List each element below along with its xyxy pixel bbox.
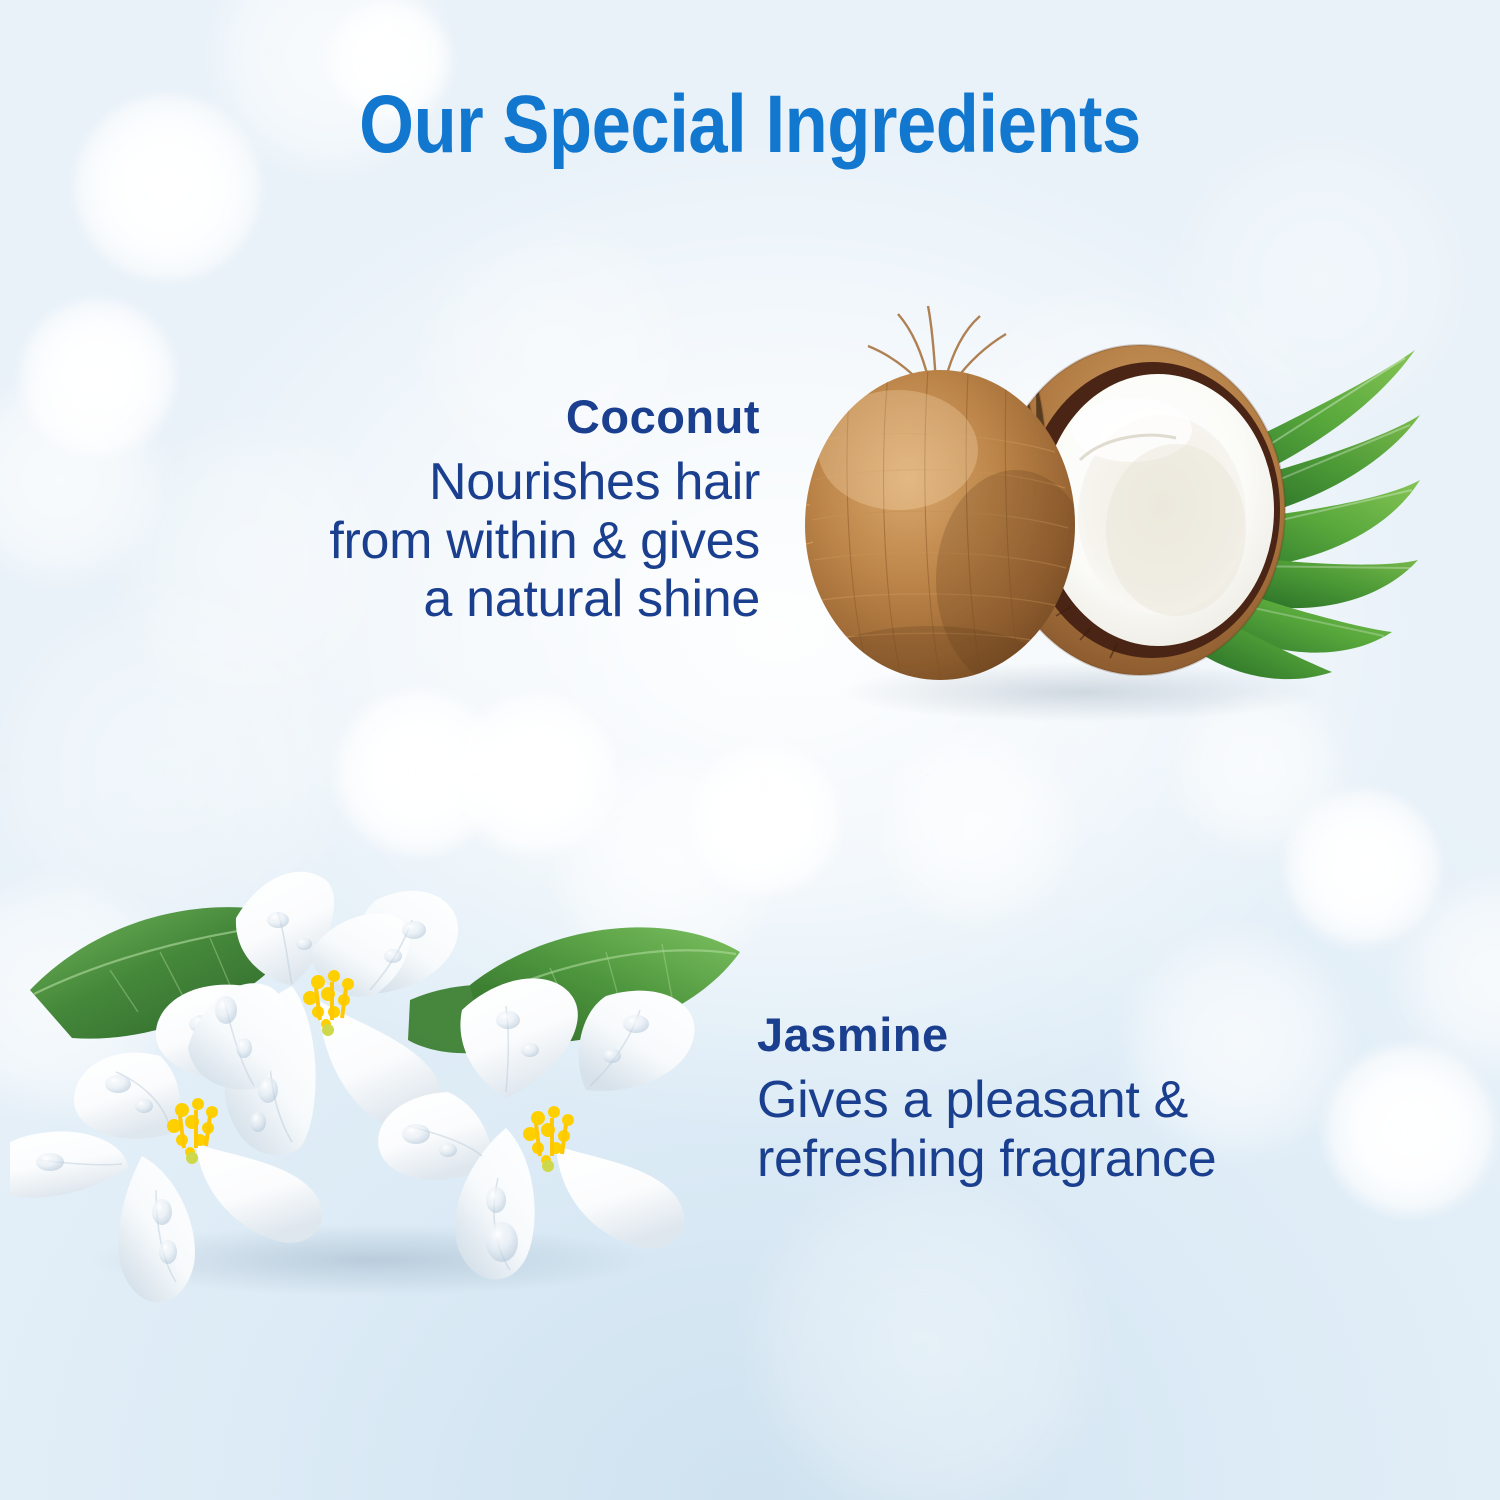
ingredients-poster: Our Special Ingredients — [0, 0, 1500, 1500]
bokeh-circle — [335, 690, 500, 855]
bokeh-circle — [1180, 140, 1460, 420]
bokeh-circle — [760, 1180, 1090, 1500]
coconut-description: Nourishes hair from within & gives a nat… — [100, 453, 760, 628]
bokeh-circle — [0, 880, 170, 1110]
bokeh-circle — [690, 745, 840, 895]
jasmine-description-line: refreshing fragrance — [757, 1130, 1457, 1188]
bokeh-circle — [455, 695, 615, 855]
bokeh-circle — [1285, 790, 1440, 945]
bokeh-circle — [950, 300, 1250, 600]
jasmine-flower — [156, 872, 458, 1155]
bokeh-circle — [885, 735, 1070, 920]
coconut-heading: Coconut — [100, 392, 760, 441]
stamen-cluster — [523, 1106, 574, 1165]
jasmine-heading: Jasmine — [757, 1010, 1457, 1059]
bokeh-background — [0, 0, 1500, 1500]
jasmine-flower — [10, 983, 322, 1302]
half-coconut — [995, 345, 1285, 675]
bokeh-circle — [0, 600, 340, 940]
jasmine-flower — [378, 978, 694, 1279]
palm-leaves — [1192, 350, 1420, 679]
whole-coconut — [780, 306, 1096, 714]
coconut-description-line: Nourishes hair — [100, 453, 760, 511]
stamen-cluster — [167, 1098, 218, 1157]
coconut-description-line: a natural shine — [100, 570, 760, 628]
jasmine-description-line: Gives a pleasant & — [757, 1071, 1457, 1129]
jasmine-text-block: Jasmine Gives a pleasant & refreshing fr… — [757, 1010, 1457, 1188]
page-title: Our Special Ingredients — [105, 78, 1395, 172]
jasmine-leaves — [30, 907, 740, 1053]
coconut-text-block: Coconut Nourishes hair from within & giv… — [100, 392, 760, 628]
bokeh-circle — [560, 760, 770, 970]
jasmine-description: Gives a pleasant & refreshing fragrance — [757, 1071, 1457, 1187]
jasmine-image — [10, 860, 750, 1310]
bokeh-circle — [1180, 690, 1340, 850]
stamen-cluster — [303, 970, 354, 1029]
coconut-description-line: from within & gives — [100, 512, 760, 570]
coconut-image — [780, 280, 1420, 740]
